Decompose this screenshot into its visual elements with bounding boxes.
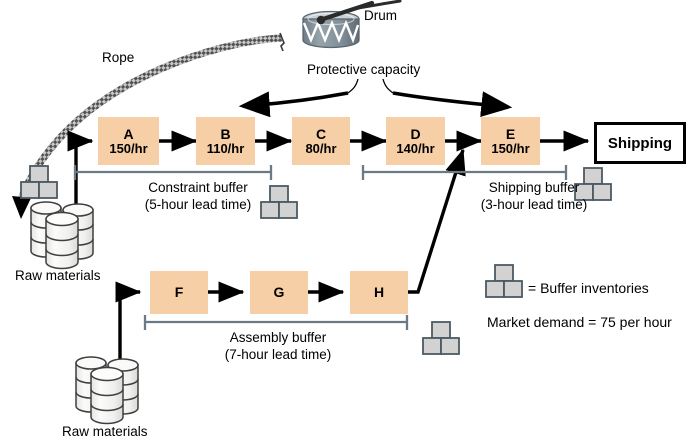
station-box-E[interactable]: E 150/hr <box>481 117 540 165</box>
constraint-buffer-leadtime: (5-hour lead time) <box>118 197 278 214</box>
shipping-box[interactable]: Shipping <box>594 122 686 164</box>
station-box-D[interactable]: D 140/hr <box>386 117 445 165</box>
protective-capacity-arrow-right <box>393 93 508 107</box>
station-E-letter: E <box>506 127 515 142</box>
station-D-rate: 140/hr <box>396 142 434 156</box>
assembly-buffer-title: Assembly buffer <box>198 330 358 347</box>
station-box-H[interactable]: H <box>350 271 408 314</box>
station-box-A[interactable]: A 150/hr <box>98 117 159 165</box>
shipping-buffer-title: Shipping buffer <box>454 180 614 197</box>
protective-capacity-arrow-left <box>243 93 348 106</box>
assembly-buffer-bracket <box>145 315 407 330</box>
station-B-rate: 110/hr <box>207 142 245 156</box>
protective-capacity-label: Protective capacity <box>307 62 420 77</box>
raw-materials-label-top: Raw materials <box>15 268 101 283</box>
constraint-buffer-bracket <box>75 165 271 180</box>
station-box-F[interactable]: F <box>150 271 208 314</box>
raw-materials-barrels-bottom <box>76 357 138 424</box>
station-A-rate: 150/hr <box>109 142 147 156</box>
station-B-letter: B <box>220 127 230 142</box>
station-F-letter: F <box>175 285 184 300</box>
buffer-inventory-icon-rope <box>21 166 57 198</box>
constraint-buffer-title: Constraint buffer <box>118 180 278 197</box>
assembly-buffer-leadtime: (7-hour lead time) <box>198 347 358 364</box>
station-A-letter: A <box>123 127 133 142</box>
raw-materials-barrels-top <box>31 202 93 269</box>
legend-buffer-inventories-label: = Buffer inventories <box>528 280 649 296</box>
rope-label: Rope <box>102 50 134 65</box>
station-C-rate: 80/hr <box>305 142 336 156</box>
buffer-inventory-icon-legend <box>486 265 522 297</box>
station-E-rate: 150/hr <box>491 142 529 156</box>
shipping-buffer-bracket <box>363 165 566 180</box>
raw-materials-label-bottom: Raw materials <box>62 424 148 439</box>
station-box-C[interactable]: C 80/hr <box>292 117 350 165</box>
station-box-B[interactable]: B 110/hr <box>196 117 255 165</box>
dbr-drum-buffer-rope-diagram: A 150/hr B 110/hr C 80/hr D 140/hr E 150… <box>0 0 689 448</box>
drum-label: Drum <box>364 8 397 23</box>
station-C-letter: C <box>316 127 326 142</box>
protective-capacity-brace <box>348 79 393 93</box>
station-D-letter: D <box>410 127 420 142</box>
shipping-buffer-leadtime: (3-hour lead time) <box>454 197 614 214</box>
station-G-letter: G <box>274 285 285 300</box>
legend-market-demand-label: Market demand = 75 per hour <box>487 314 672 330</box>
station-box-G[interactable]: G <box>250 271 308 314</box>
station-H-letter: H <box>374 285 384 300</box>
buffer-inventory-icon-assembly <box>423 322 459 354</box>
